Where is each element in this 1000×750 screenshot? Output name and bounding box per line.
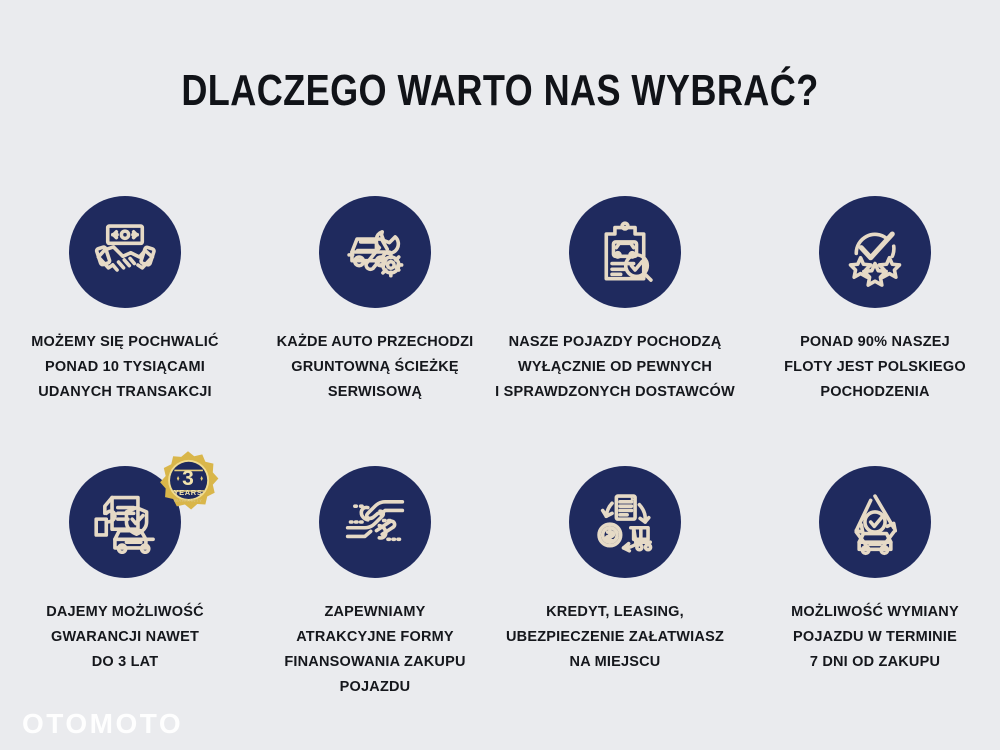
icon-circle: 3 YEARS WARRANTY — [69, 466, 181, 578]
icon-circle — [69, 196, 181, 308]
handshake-money-icon — [89, 216, 161, 288]
badge-years-label: YEARS — [174, 489, 203, 497]
icon-circle — [569, 466, 681, 578]
feature-item-transactions: MOŻEMY SIĘ POCHWALIĆ PONAD 10 TYSIĄCAMI … — [0, 196, 250, 466]
icon-circle — [819, 466, 931, 578]
car-exchange-return-icon — [839, 486, 911, 558]
feature-caption: KREDYT, LEASING, UBEZPIECZENIE ZAŁATWIAS… — [470, 600, 760, 675]
badge-number: 3 — [182, 468, 194, 489]
clipboard-car-inspection-icon — [589, 216, 661, 288]
icon-circle — [319, 466, 431, 578]
icon-circle — [319, 196, 431, 308]
feature-caption: ZAPEWNIAMY ATRAKCYJNE FORMY FINANSOWANIA… — [250, 600, 500, 700]
feature-caption: MOŻEMY SIĘ POCHWALIĆ PONAD 10 TYSIĄCAMI … — [0, 330, 250, 405]
badge-warranty-label: WARRANTY — [174, 499, 202, 504]
feature-item-financing: ZAPEWNIAMY ATRAKCYJNE FORMY FINANSOWANIA… — [250, 466, 500, 716]
feature-item-exchange: MOŻLIWOŚĆ WYMIANY POJAZDU W TERMINIE 7 D… — [750, 466, 1000, 716]
icon-circle — [569, 196, 681, 308]
feature-item-suppliers: NASZE POJAZDY POCHODZĄ WYŁĄCZNIE OD PEWN… — [500, 196, 750, 466]
feature-item-credit-leasing: KREDYT, LEASING, UBEZPIECZENIE ZAŁATWIAS… — [500, 466, 750, 716]
feature-item-warranty: 3 YEARS WARRANTY DAJEMY MOŻLIWOŚĆ GWARAN… — [0, 466, 250, 716]
feature-caption: MOŻLIWOŚĆ WYMIANY POJAZDU W TERMINIE 7 D… — [750, 600, 1000, 675]
warranty-document-shield-car-icon — [89, 486, 161, 558]
hands-exchange-keys-icon — [339, 486, 411, 558]
feature-caption: KAŻDE AUTO PRZECHODZI GRUNTOWNĄ ŚCIEŻKĘ … — [250, 330, 500, 405]
icon-circle — [819, 196, 931, 308]
feature-caption: DAJEMY MOŻLIWOŚĆ GWARANCJI NAWET DO 3 LA… — [0, 600, 250, 675]
promo-banner: DLACZEGO WARTO NAS WYBRAĆ? — [0, 0, 1000, 750]
financing-cycle-document-cart-coin-icon — [589, 486, 661, 558]
feature-caption: NASZE POJAZDY POCHODZĄ WYŁĄCZNIE OD PEWN… — [470, 330, 760, 405]
car-service-wrench-gear-icon — [339, 216, 411, 288]
feature-item-service: KAŻDE AUTO PRZECHODZI GRUNTOWNĄ ŚCIEŻKĘ … — [250, 196, 500, 466]
page-title: DLACZEGO WARTO NAS WYBRAĆ? — [90, 66, 910, 116]
feature-grid: MOŻEMY SIĘ POCHWALIĆ PONAD 10 TYSIĄCAMI … — [0, 196, 1000, 716]
warranty-3-years-badge: 3 YEARS WARRANTY — [157, 450, 219, 512]
feature-caption: PONAD 90% NASZEJ FLOTY JEST POLSKIEGO PO… — [750, 330, 1000, 405]
check-stars-quality-icon — [839, 216, 911, 288]
feature-item-polish-fleet: PONAD 90% NASZEJ FLOTY JEST POLSKIEGO PO… — [750, 196, 1000, 466]
otomoto-watermark: OTOMOTO — [22, 708, 183, 740]
